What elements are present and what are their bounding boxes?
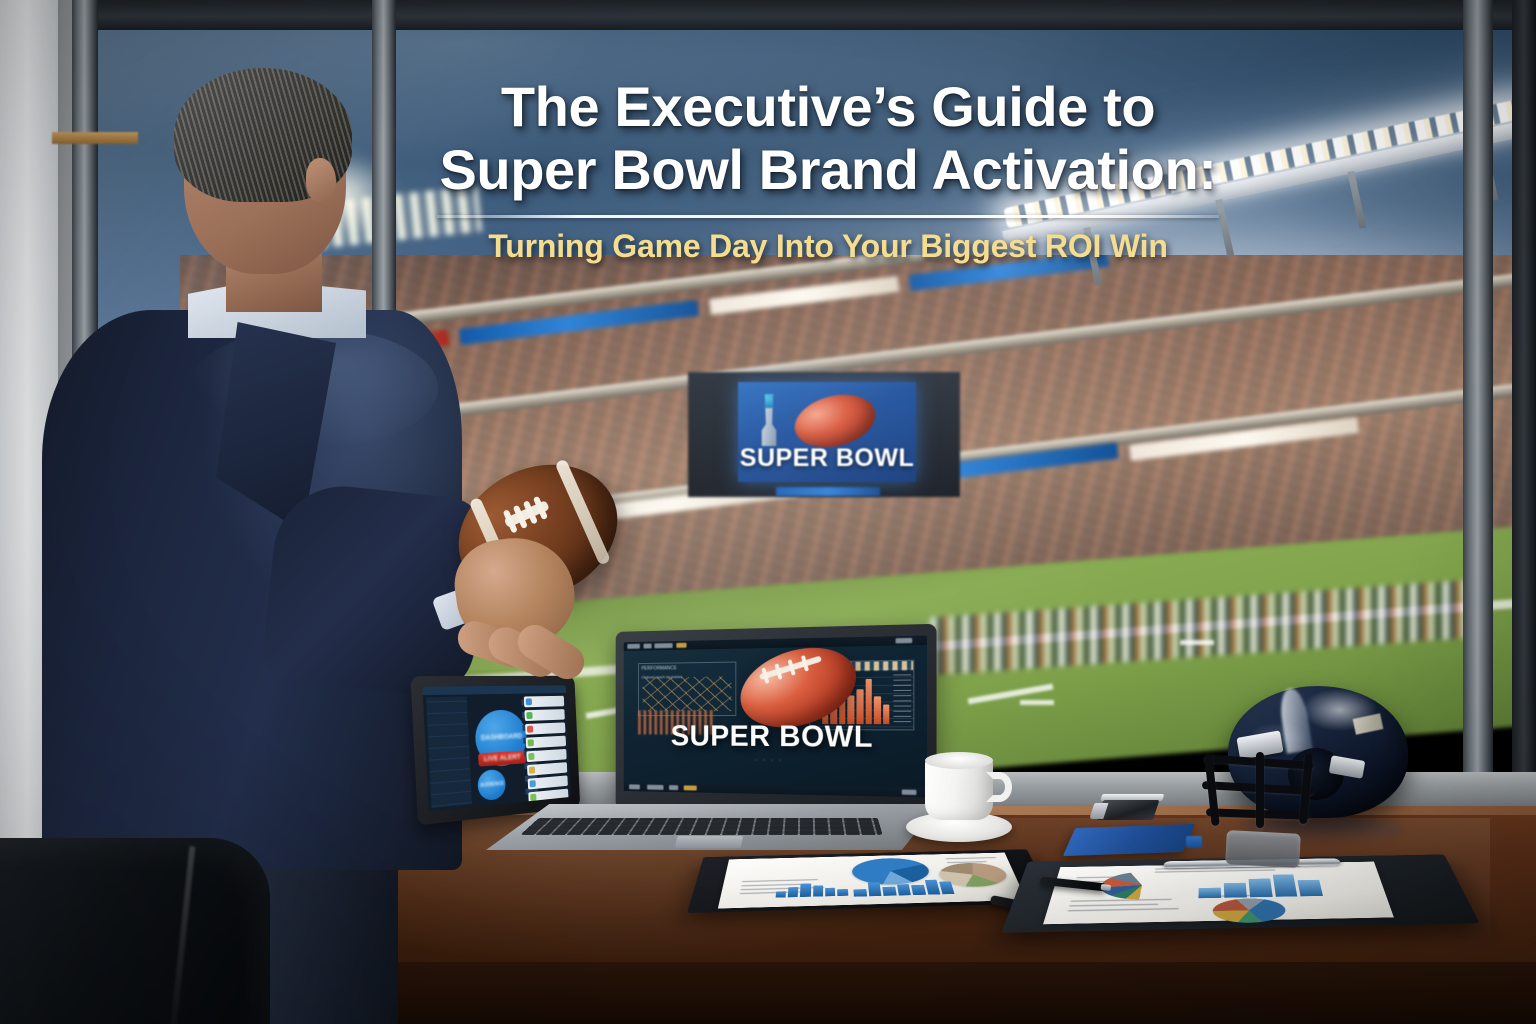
- body-text-line: [946, 857, 996, 859]
- tablet-stand: [52, 132, 138, 144]
- jumbotron-screen: SUPER BOWL: [738, 382, 916, 482]
- body-text-line: [1070, 899, 1172, 902]
- report-page: [718, 853, 1026, 909]
- chart-legend-strip: [894, 675, 911, 725]
- network-graph: [642, 676, 731, 712]
- window-mullion: [1463, 0, 1493, 800]
- coffee-cup-handle: [986, 772, 1012, 802]
- helmet-chin-guard: [1225, 830, 1301, 868]
- hero-subtitle: Turning Game Day Into Your Biggest ROI W…: [436, 228, 1220, 265]
- body-text-line: [1069, 904, 1158, 907]
- bar-chart-brand-lift: [1199, 872, 1323, 898]
- laptop-trackpad[interactable]: [675, 836, 744, 848]
- title-divider: [437, 215, 1219, 218]
- hero-banner: SUPER BOWL: [0, 0, 1536, 1024]
- desk-front-panel: [300, 962, 1536, 1024]
- report-document: [700, 852, 1040, 906]
- laptop-screen-subtext: · · · ·: [624, 755, 927, 765]
- trophy-icon: [756, 394, 782, 446]
- football-laces: [504, 501, 550, 529]
- desk-small-object: [1186, 836, 1202, 848]
- hero-title-line-2: Super Bowl Brand Activation:: [436, 139, 1220, 202]
- pie-chart-channel-mix: [1212, 898, 1287, 924]
- laptop-lid: PERFORMANCE Channel reach by market: [616, 624, 937, 814]
- clipboard-page: [1043, 862, 1394, 925]
- coffee-cup-rim: [925, 752, 993, 769]
- laptop-screen[interactable]: PERFORMANCE Channel reach by market: [624, 635, 927, 797]
- desk-stapler: [1094, 794, 1165, 821]
- hero-title-line-1: The Executive’s Guide to: [436, 76, 1220, 139]
- jumbotron-ticker: [776, 487, 880, 496]
- helmet-center-stripe: [1277, 686, 1313, 753]
- hash-mark: [1180, 640, 1214, 645]
- hash-mark: [1020, 700, 1054, 705]
- gantry-leg: [1347, 171, 1366, 229]
- window-header-rail: [72, 0, 1536, 30]
- bar-chart-impressions: [775, 880, 848, 897]
- body-text-line: [1068, 908, 1178, 911]
- blue-notebook: [1063, 824, 1195, 856]
- office-chair: [0, 838, 270, 1024]
- tablet-side-list: [426, 697, 472, 809]
- ear: [306, 158, 336, 202]
- laptop-screen-bottombar: [624, 782, 927, 797]
- clipboard: [1013, 859, 1467, 925]
- jumbotron-headline: SUPER BOWL: [738, 444, 916, 473]
- laptop-left-panel: PERFORMANCE Channel reach by market: [638, 661, 736, 716]
- helmet-decal: [1353, 713, 1384, 734]
- football-laces: [759, 656, 822, 681]
- laptop-screen-headline: SUPER BOWL: [624, 720, 927, 756]
- football-helmet: [1198, 686, 1416, 848]
- laptop-screen-topbar: [624, 635, 927, 650]
- laptop-keyboard[interactable]: [520, 818, 882, 835]
- helmet-facemask: [1200, 748, 1328, 838]
- jumbotron: SUPER BOWL: [688, 372, 960, 497]
- bar-chart-engagement: [853, 879, 955, 897]
- hero-title-block: The Executive’s Guide to Super Bowl Bran…: [436, 76, 1220, 265]
